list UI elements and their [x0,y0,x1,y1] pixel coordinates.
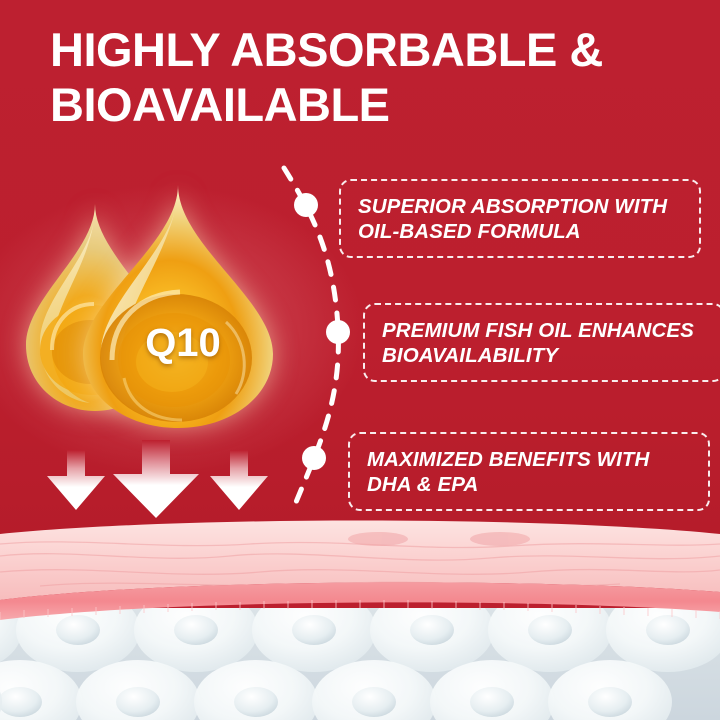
benefit-callout-3: MAXIMIZED BENEFITS WITH DHA & EPA [348,432,710,511]
skin-layers-illustration [0,520,720,720]
benefit-callout-2: PREMIUM FISH OIL ENHANCES BIOAVAILABILIT… [363,303,720,382]
benefit-dot-1 [294,193,318,217]
oil-droplet-front-icon [76,182,281,432]
arrow-down-center-icon [110,440,202,520]
absorption-arrows-group [45,440,275,522]
page-title: HIGHLY ABSORBABLE & BIOAVAILABLE [50,22,690,132]
benefit-dot-2 [326,320,350,344]
infographic-canvas: HIGHLY ABSORBABLE & BIOAVAILABLE [0,0,720,720]
skin-cross-section [0,520,720,720]
oil-droplet-group: Q10 [18,182,308,432]
benefit-callout-1: SUPERIOR ABSORPTION WITH OIL-BASED FORMU… [339,179,701,258]
benefit-dot-3 [302,446,326,470]
arrow-down-left-icon [45,450,107,512]
arrow-down-right-icon [208,450,270,512]
